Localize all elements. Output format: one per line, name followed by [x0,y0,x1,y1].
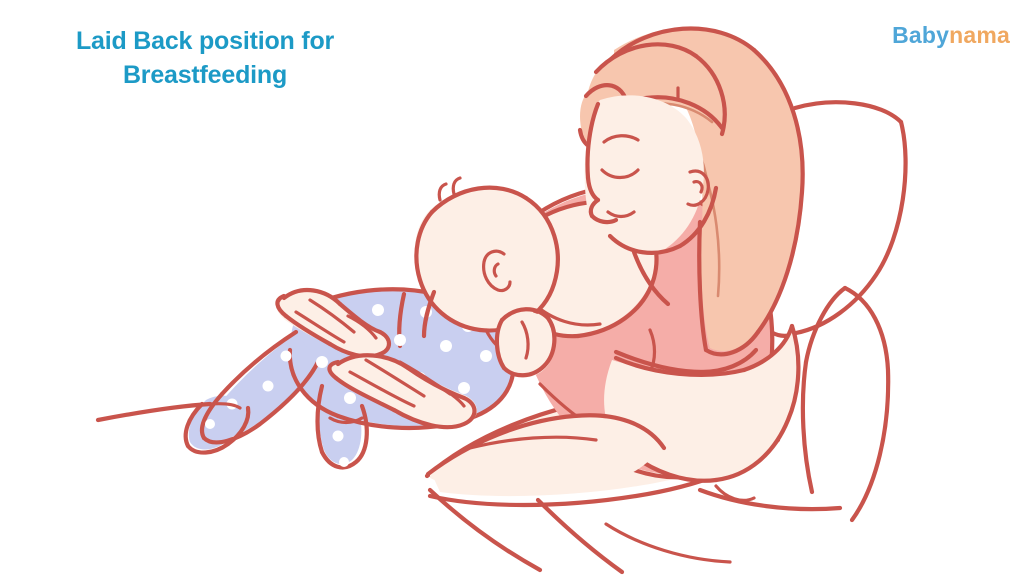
babynama-logo[interactable]: Babynama [892,22,1010,48]
page-title-line-2: Breastfeeding [40,58,370,92]
page-title-line-1: Laid Back position for [40,24,370,58]
illustration-canvas: Laid Back position for Breastfeeding Bab… [0,0,1024,576]
logo-text-baby: Baby [892,22,949,48]
logo-text-nama: nama [949,22,1010,48]
page-title: Laid Back position for Breastfeeding [40,24,370,92]
